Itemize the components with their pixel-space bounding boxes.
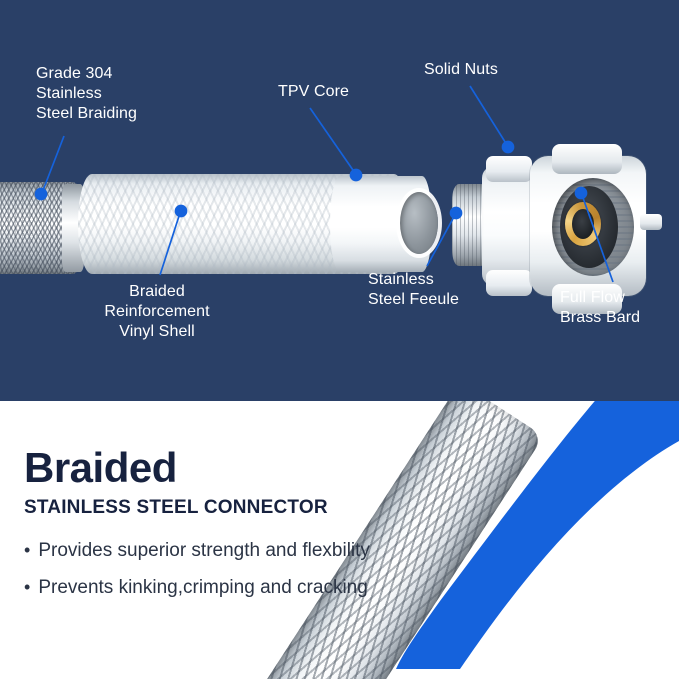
solid-nut-wing-top — [552, 144, 622, 174]
leader-dot-solid-nuts — [503, 142, 514, 153]
leader-line-solid-nuts — [470, 86, 507, 145]
tpv-core-tube-opening — [400, 192, 438, 254]
callout-grade-304-stainless-steel-braiding: Grade 304 Stainless Steel Braiding — [36, 64, 186, 124]
callout-tpv-core: TPV Core — [278, 82, 388, 102]
brass-barb-bore — [572, 209, 594, 239]
feature-bullet-text: Prevents kinking,crimping and cracking — [38, 575, 368, 601]
feature-bullet-text: Provides superior strength and flexbilit… — [38, 538, 370, 564]
hose-assembly-illustration — [0, 160, 679, 290]
bullet-dot-icon: • — [24, 574, 30, 600]
coupling-nut-flange-top — [486, 156, 532, 182]
callout-braided-reinforcement-vinyl-shell: Braided Reinforcement Vinyl Shell — [62, 282, 252, 342]
solid-nut-side-tab — [640, 214, 662, 230]
callout-solid-nuts: Solid Nuts — [424, 60, 544, 80]
feature-bullet-item: • Provides superior strength and flexbil… — [24, 537, 454, 564]
info-panel: Braided STAINLESS STEEL CONNECTOR • Prov… — [0, 401, 679, 679]
coupling-nut-flange-bottom — [486, 270, 532, 296]
subheadline: STAINLESS STEEL CONNECTOR — [24, 497, 454, 519]
diagram-panel: Grade 304 Stainless Steel Braiding TPV C… — [0, 0, 679, 401]
callout-stainless-steel-ferrule: Stainless Steel Feeule — [368, 270, 488, 310]
bullet-dot-icon: • — [24, 537, 30, 563]
callout-full-flow-brass-barb: Full Flow Brass Bard — [560, 288, 679, 328]
info-text-block: Braided STAINLESS STEEL CONNECTOR • Prov… — [24, 445, 454, 611]
feature-bullet-item: • Prevents kinking,crimping and cracking — [24, 574, 454, 601]
headline: Braided — [24, 445, 454, 491]
product-infographic: Grade 304 Stainless Steel Braiding TPV C… — [0, 0, 679, 679]
